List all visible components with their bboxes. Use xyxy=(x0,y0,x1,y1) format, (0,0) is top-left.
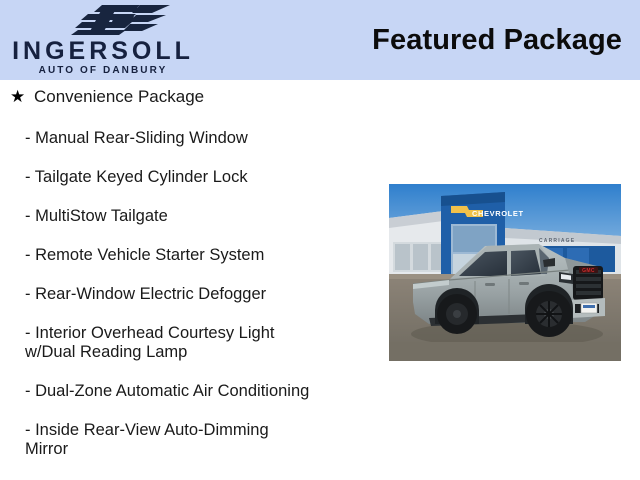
package-heading-label: Convenience Package xyxy=(34,87,204,107)
page-title: Featured Package xyxy=(372,24,622,57)
svg-text:GMC: GMC xyxy=(582,268,595,274)
list-item: - Interior Overhead Courtesy Light w/Dua… xyxy=(25,324,370,362)
svg-text:CARRIAGE: CARRIAGE xyxy=(539,238,575,244)
package-section: ★ Convenience Package - Manual Rear-Slid… xyxy=(0,80,380,459)
vehicle-photo: CHEVROLET CARRIAGE xyxy=(389,184,621,361)
list-item: - Rear-Window Electric Defogger xyxy=(25,285,370,304)
list-item: - Dual-Zone Automatic Air Conditioning xyxy=(25,382,370,401)
list-item: - Remote Vehicle Starter System xyxy=(25,246,370,265)
list-item: - MultiStow Tailgate xyxy=(25,207,370,226)
ingersoll-winged-emblem-icon xyxy=(44,3,170,37)
dealer-wordmark: INGERSOLL xyxy=(8,38,198,65)
page-header: INGERSOLL AUTO OF DANBURY Featured Packa… xyxy=(0,0,640,80)
list-item: - Tailgate Keyed Cylinder Lock xyxy=(25,168,370,187)
feature-list: - Manual Rear-Sliding Window - Tailgate … xyxy=(0,129,380,459)
list-item: - Inside Rear-View Auto-Dimming Mirror xyxy=(25,421,370,459)
star-icon: ★ xyxy=(10,90,24,104)
dealer-subwordmark: AUTO OF DANBURY xyxy=(8,65,198,76)
svg-text:CHEVROLET: CHEVROLET xyxy=(472,209,524,218)
dealer-logo: INGERSOLL AUTO OF DANBURY xyxy=(0,0,330,80)
package-heading: ★ Convenience Package xyxy=(0,80,380,114)
list-item: - Manual Rear-Sliding Window xyxy=(25,129,370,148)
